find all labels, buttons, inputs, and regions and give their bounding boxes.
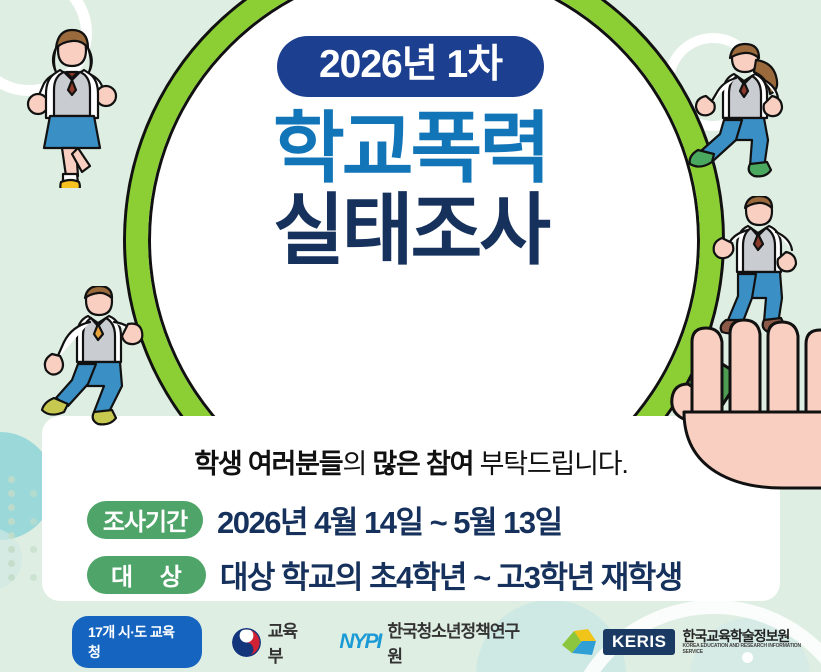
year-badge: 2026년 1차	[277, 36, 544, 97]
card-headline-bold-1: 학생 여러분들	[194, 449, 342, 479]
moe-label: 교육부	[268, 617, 312, 667]
keris-label-en: KOREA EDUCATION AND RESEARCH INFORMATION…	[682, 643, 821, 655]
keris-label-ko: 한국교육학술정보원	[682, 629, 821, 644]
taegeuk-icon	[232, 628, 261, 657]
hand-holding-magnifier-illustration	[648, 300, 821, 490]
offices-pill: 17개 시·도 교육청	[72, 616, 202, 668]
label-pill-period: 조사기간	[87, 501, 203, 539]
footer-logos: 17개 시·도 교육청 교육부 NYPI 한국청소년정책연구원	[0, 612, 821, 672]
logo-moe: 교육부	[232, 617, 311, 667]
logo-keris: KERIS 한국교육학술정보원 KOREA EDUCATION AND RESE…	[562, 629, 821, 656]
info-row-period: 조사기간 2026년 4월 14일 ~ 5월 13일	[42, 497, 780, 542]
title-line-2: 실태조사	[273, 191, 548, 271]
title-line-1: 학교폭력	[273, 109, 548, 189]
keris-label-group: 한국교육학술정보원 KOREA EDUCATION AND RESEARCH I…	[682, 629, 821, 656]
label-pill-target: 대 상	[87, 556, 206, 594]
value-target: 대상 학교의 초4학년 ~ 고3학년 재학생	[220, 552, 682, 597]
card-headline-light-2: 부탁드립니다.	[473, 449, 627, 479]
card-headline-bold-2: 많은 참여	[372, 449, 473, 479]
nypi-label: 한국청소년정책연구원	[387, 617, 532, 667]
keris-wordmark: KERIS	[603, 629, 675, 655]
logo-nypi: NYPI 한국청소년정책연구원	[339, 617, 532, 667]
info-row-target: 대 상 대상 학교의 초4학년 ~ 고3학년 재학생	[42, 552, 780, 597]
value-period: 2026년 4월 14일 ~ 5월 13일	[217, 497, 562, 542]
card-headline-light-1: 의	[342, 449, 372, 479]
poster-root: 2026년 1차 학교폭력 실태조사 학생 여러분들의 많은 참여 부탁드립니다…	[0, 0, 821, 672]
keris-mark-icon	[562, 629, 596, 655]
nypi-mark-icon: NYPI	[339, 630, 380, 654]
